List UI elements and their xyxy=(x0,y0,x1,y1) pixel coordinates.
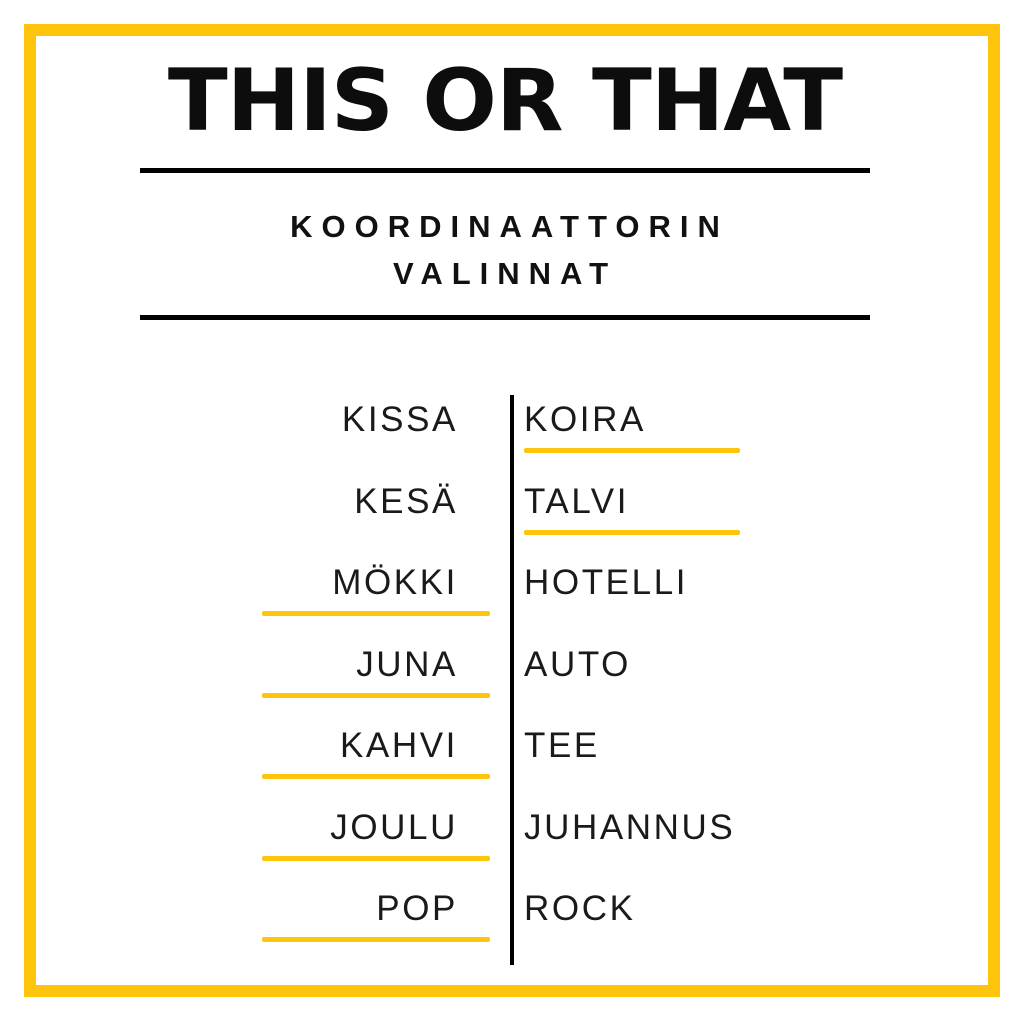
option-right-label: KOIRA xyxy=(524,395,870,445)
option-right-label: HOTELLI xyxy=(524,558,870,608)
page-subtitle: KOORDINAATTORIN VALINNAT xyxy=(140,173,870,297)
table-row: KESÄTALVI xyxy=(140,477,870,559)
option-right[interactable]: JUHANNUS xyxy=(490,803,870,853)
table-row: JOULUJUHANNUS xyxy=(140,803,870,885)
selection-underline-right xyxy=(524,530,740,535)
header-block: THIS OR THAT KOORDINAATTORIN VALINNAT xyxy=(140,58,870,320)
option-left-label: KAHVI xyxy=(140,721,458,771)
option-left[interactable]: MÖKKI xyxy=(140,558,490,608)
selection-underline-right xyxy=(524,448,740,453)
comparison-rows: KISSAKOIRAKESÄTALVIMÖKKIHOTELLIJUNAAUTOK… xyxy=(140,395,870,966)
option-right-label: TEE xyxy=(524,721,870,771)
selection-underline-left xyxy=(262,611,490,616)
option-left[interactable]: KISSA xyxy=(140,395,490,445)
option-right[interactable]: TEE xyxy=(490,721,870,771)
divider-bottom xyxy=(140,315,870,320)
option-right[interactable]: KOIRA xyxy=(490,395,870,445)
subtitle-line-2: VALINNAT xyxy=(393,256,617,291)
option-left-label: MÖKKI xyxy=(140,558,458,608)
option-left-label: KESÄ xyxy=(140,477,458,527)
option-right[interactable]: HOTELLI xyxy=(490,558,870,608)
option-right[interactable]: AUTO xyxy=(490,640,870,690)
page-title: THIS OR THAT xyxy=(133,58,878,146)
selection-underline-left xyxy=(262,693,490,698)
table-row: MÖKKIHOTELLI xyxy=(140,558,870,640)
selection-underline-left xyxy=(262,774,490,779)
option-right-label: JUHANNUS xyxy=(524,803,870,853)
selection-underline-left xyxy=(262,856,490,861)
selection-underline-left xyxy=(262,937,490,942)
option-right[interactable]: TALVI xyxy=(490,477,870,527)
option-right[interactable]: ROCK xyxy=(490,884,870,934)
comparison-table: KISSAKOIRAKESÄTALVIMÖKKIHOTELLIJUNAAUTOK… xyxy=(140,395,870,966)
option-right-label: TALVI xyxy=(524,477,870,527)
table-row: JUNAAUTO xyxy=(140,640,870,722)
option-left[interactable]: JOULU xyxy=(140,803,490,853)
table-row: POPROCK xyxy=(140,884,870,966)
option-left-label: JUNA xyxy=(140,640,458,690)
subtitle-line-1: KOORDINAATTORIN xyxy=(290,209,729,244)
option-left-label: POP xyxy=(140,884,458,934)
poster-canvas: THIS OR THAT KOORDINAATTORIN VALINNAT KI… xyxy=(0,0,1024,1024)
option-left[interactable]: KESÄ xyxy=(140,477,490,527)
option-right-label: AUTO xyxy=(524,640,870,690)
table-row: KISSAKOIRA xyxy=(140,395,870,477)
option-left[interactable]: JUNA xyxy=(140,640,490,690)
option-left-label: JOULU xyxy=(140,803,458,853)
option-left-label: KISSA xyxy=(140,395,458,445)
table-row: KAHVITEE xyxy=(140,721,870,803)
option-left[interactable]: KAHVI xyxy=(140,721,490,771)
option-right-label: ROCK xyxy=(524,884,870,934)
option-left[interactable]: POP xyxy=(140,884,490,934)
